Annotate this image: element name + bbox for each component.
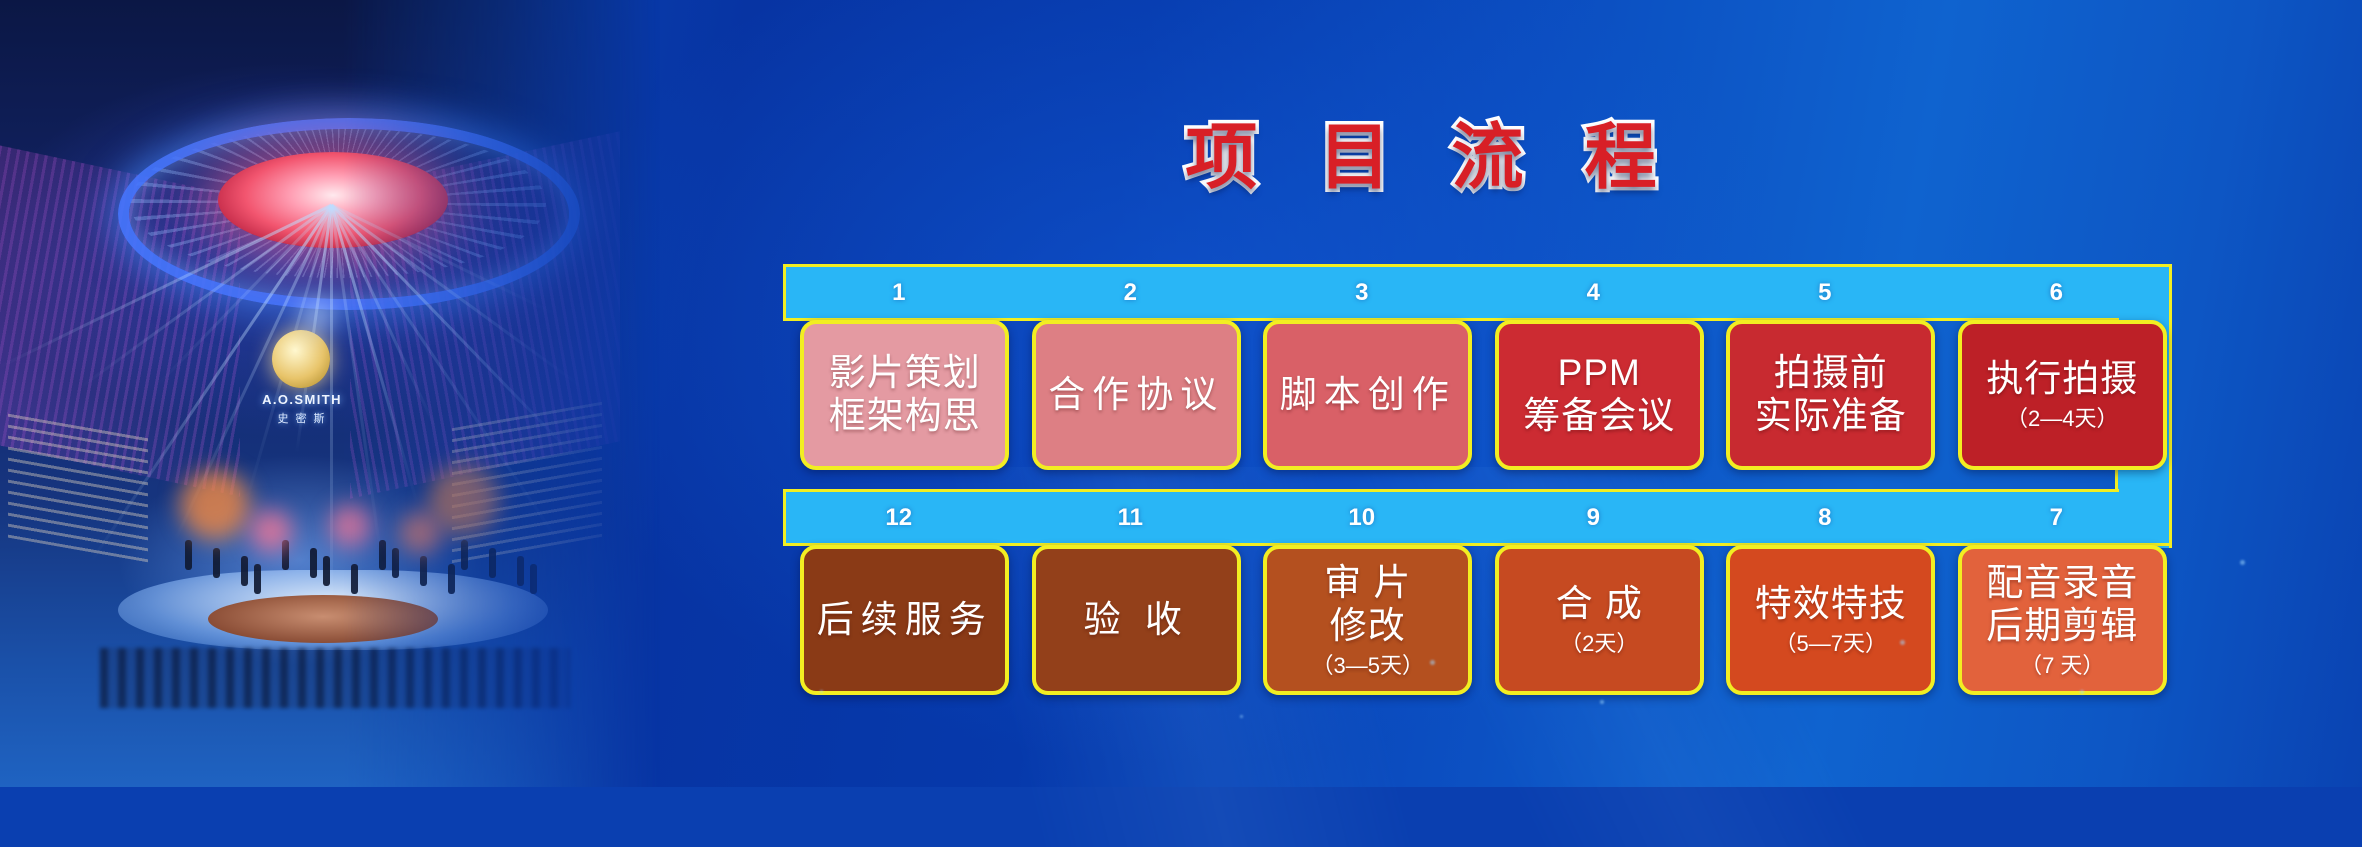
step-label-line1: PPM bbox=[1558, 352, 1641, 395]
step-label-line2: 后期剪辑 bbox=[1986, 605, 2138, 648]
step-box[interactable]: 影片策划框架构思 bbox=[800, 320, 1009, 470]
step-box[interactable]: 后续服务 bbox=[800, 545, 1009, 695]
step-number: 9 bbox=[1553, 504, 1633, 532]
step-label-line2: 框架构思 bbox=[829, 395, 981, 438]
step-box[interactable]: 特效特技（5—7天） bbox=[1726, 545, 1935, 695]
step-label-line1: 特效特技 bbox=[1755, 583, 1907, 626]
step-duration: （5—7天） bbox=[1775, 631, 1887, 657]
step-number: 10 bbox=[1322, 504, 1402, 532]
performer bbox=[213, 548, 220, 578]
step-number: 11 bbox=[1090, 504, 1170, 532]
flow-rail-bottom-edge bbox=[783, 489, 2119, 492]
step-number: 5 bbox=[1785, 279, 1865, 307]
light-beam bbox=[331, 204, 557, 316]
step-box[interactable]: 验 收 bbox=[1032, 545, 1241, 695]
step-box[interactable]: 执行拍摄（2—4天） bbox=[1958, 320, 2167, 470]
background-sparkle bbox=[960, 620, 964, 624]
performer bbox=[530, 564, 537, 594]
performer bbox=[448, 564, 455, 594]
brand-disc-icon bbox=[272, 330, 330, 388]
performer bbox=[351, 564, 358, 594]
brand-name-cn: 史 密 斯 bbox=[232, 410, 372, 426]
step-number: 6 bbox=[2016, 279, 2096, 307]
step-number: 4 bbox=[1553, 279, 1633, 307]
step-label-line1: 影片策划 bbox=[829, 352, 981, 395]
background-sparkle bbox=[1240, 715, 1243, 718]
performer bbox=[241, 556, 248, 586]
performer bbox=[254, 564, 261, 594]
background-sparkle bbox=[2080, 690, 2084, 694]
step-box[interactable]: 合 成（2天） bbox=[1495, 545, 1704, 695]
performer bbox=[461, 540, 468, 570]
step-label-line1: 配音录音 bbox=[1986, 562, 2138, 605]
page-title: 项 目 流 程 bbox=[1170, 98, 1690, 203]
performer bbox=[185, 540, 192, 570]
step-label-line1: 合 成 bbox=[1556, 583, 1643, 626]
performer bbox=[323, 556, 330, 586]
light-beam bbox=[331, 204, 584, 389]
stage-glow bbox=[400, 512, 442, 554]
step-box[interactable]: 拍摄前实际准备 bbox=[1726, 320, 1935, 470]
performer bbox=[517, 556, 524, 586]
performer bbox=[310, 548, 317, 578]
stage-photo: A.O.SMITH 史 密 斯 bbox=[0, 0, 660, 787]
step-box[interactable]: 配音录音后期剪辑（7 天） bbox=[1958, 545, 2167, 695]
performer bbox=[420, 556, 427, 586]
step-box[interactable]: 审 片修改（3—5天） bbox=[1263, 545, 1472, 695]
step-number: 8 bbox=[1785, 504, 1865, 532]
step-number: 7 bbox=[2016, 504, 2096, 532]
step-duration: （3—5天） bbox=[1312, 653, 1424, 679]
step-label-line1: 审 片 bbox=[1324, 562, 1411, 605]
step-label-line2: 实际准备 bbox=[1755, 395, 1907, 438]
stage-glow bbox=[250, 510, 292, 552]
step-label-line1: 后续服务 bbox=[817, 599, 993, 642]
step-box[interactable]: 脚本创作 bbox=[1263, 320, 1472, 470]
performer bbox=[489, 548, 496, 578]
background-sparkle bbox=[820, 690, 823, 693]
flow-rail-bottom bbox=[783, 489, 2172, 546]
audience bbox=[100, 648, 570, 708]
performer bbox=[379, 540, 386, 570]
step-label-line1: 拍摄前 bbox=[1774, 352, 1888, 395]
stage-glow bbox=[330, 505, 372, 547]
step-box[interactable]: PPM筹备会议 bbox=[1495, 320, 1704, 470]
step-label-line2: 修改 bbox=[1330, 605, 1406, 648]
step-number: 2 bbox=[1090, 279, 1170, 307]
step-box[interactable]: 合作协议 bbox=[1032, 320, 1241, 470]
step-number: 1 bbox=[859, 279, 939, 307]
stage-glow bbox=[180, 470, 250, 540]
step-duration: （2—4天） bbox=[2006, 406, 2118, 432]
background-sparkle bbox=[1900, 640, 1905, 645]
flow-rail-top bbox=[783, 264, 2172, 321]
step-label-line2: 筹备会议 bbox=[1523, 395, 1675, 438]
step-label-line1: 执行拍摄 bbox=[1986, 358, 2138, 401]
background-sparkle bbox=[1430, 660, 1435, 665]
step-duration: （7 天） bbox=[2020, 653, 2104, 679]
step-label-line1: 脚本创作 bbox=[1280, 374, 1456, 417]
stage-center-disc bbox=[208, 595, 438, 643]
step-number: 12 bbox=[859, 504, 939, 532]
background-sparkle bbox=[2240, 560, 2245, 565]
brand-name: A.O.SMITH bbox=[232, 392, 372, 407]
step-duration: （2天） bbox=[1560, 631, 1638, 657]
step-label-line1: 合作协议 bbox=[1048, 374, 1224, 417]
background-sparkle bbox=[1600, 700, 1604, 704]
performer bbox=[392, 548, 399, 578]
step-label-line1: 验 收 bbox=[1084, 599, 1189, 642]
stage-glow bbox=[300, 300, 334, 334]
step-number: 3 bbox=[1322, 279, 1402, 307]
